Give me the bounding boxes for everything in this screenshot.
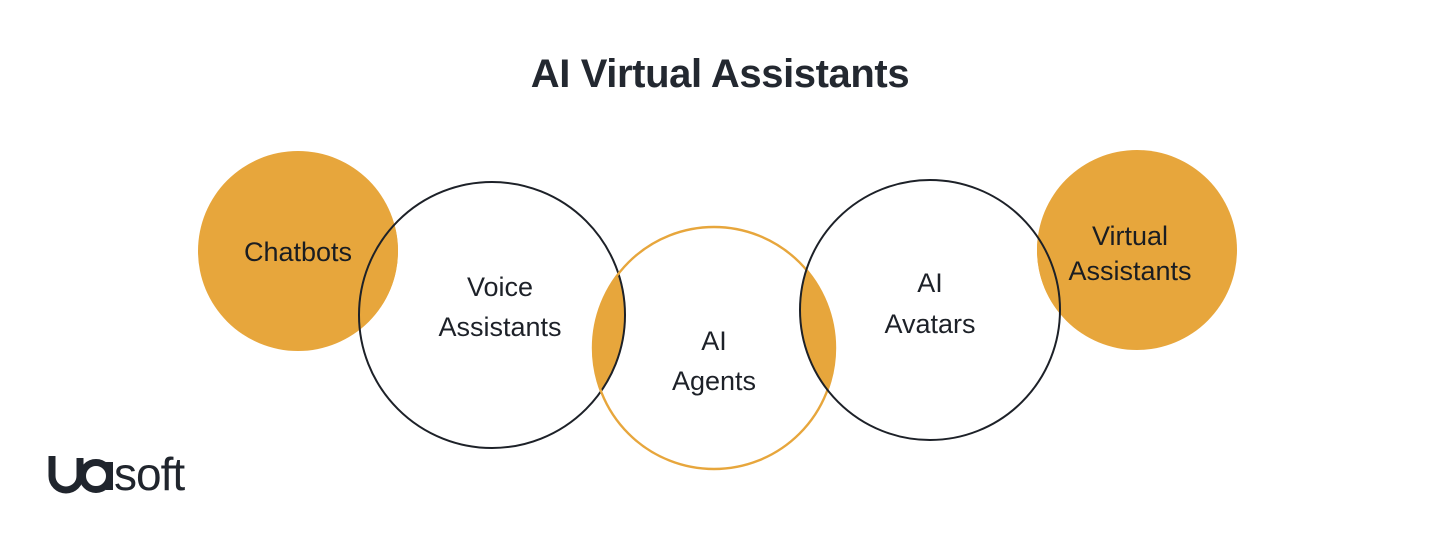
label-virtual-assistants-line1: Virtual <box>1092 221 1168 251</box>
label-chatbots: Chatbots <box>244 237 352 267</box>
lasoft-logo-mark <box>52 456 110 490</box>
lasoft-logo-text: soft <box>114 448 185 500</box>
label-ai-avatars-line2: Avatars <box>884 309 975 339</box>
label-voice-assistants-line1: Voice <box>467 272 533 302</box>
label-ai-agents-line1: AI <box>701 326 727 356</box>
label-ai-avatars-line1: AI <box>917 268 943 298</box>
lasoft-logo[interactable]: soft <box>48 448 248 504</box>
label-virtual-assistants-line2: Assistants <box>1068 256 1191 286</box>
diagram-canvas: AI Virtual Assistants <box>0 0 1440 538</box>
label-voice-assistants-line2: Assistants <box>438 312 561 342</box>
label-ai-agents-line2: Agents <box>672 366 756 396</box>
